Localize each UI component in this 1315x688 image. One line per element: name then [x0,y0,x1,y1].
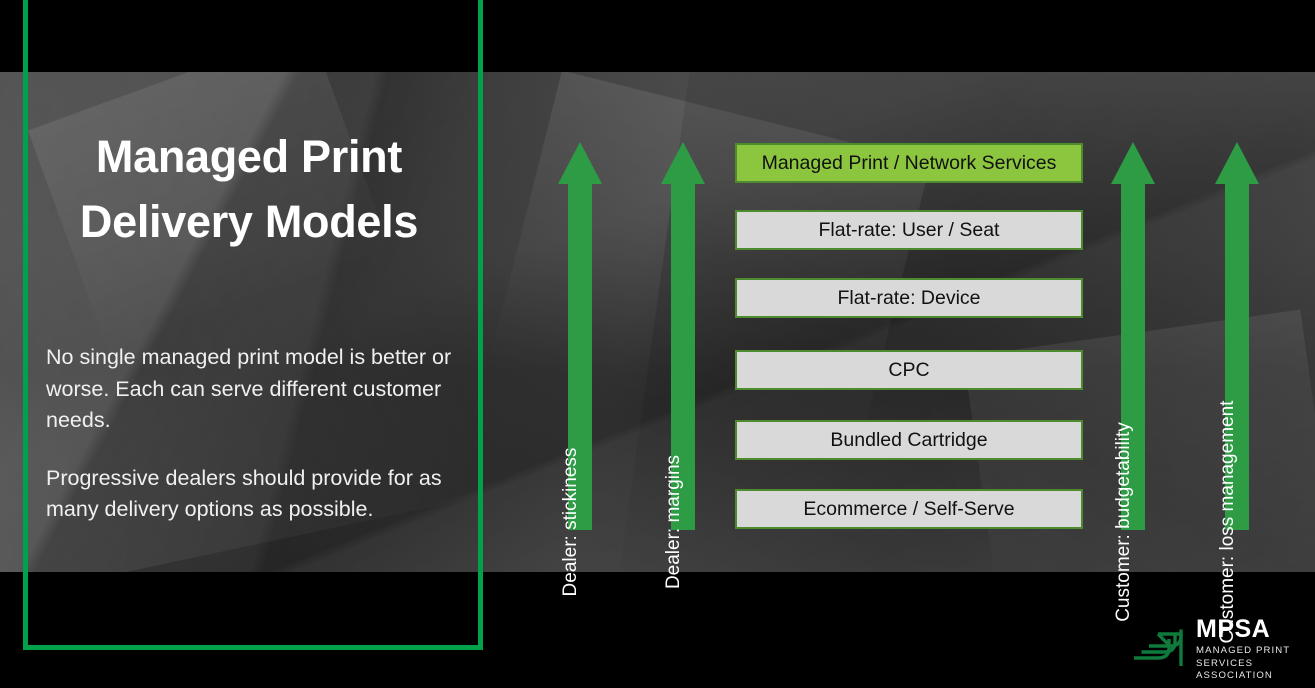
arrow-shaft: Dealer: margins [671,184,695,530]
arrow-dealer-stickiness: Dealer: stickiness [558,142,602,530]
model-box-label: Flat-rate: Device [837,287,980,310]
model-box-label: Bundled Cartridge [830,429,987,452]
arrow-label: Dealer: margins [664,455,683,589]
page-title-line-1: Managed Print [44,124,454,189]
arrow-customer-loss-management: Customer: loss management [1215,142,1259,530]
model-box-flat-rate-user-seat[interactable]: Flat-rate: User / Seat [735,210,1083,250]
body-paragraph-1: No single managed print model is better … [46,342,471,437]
logo-name: MPSA [1196,617,1298,642]
model-box-ecommerce-self-serve[interactable]: Ecommerce / Self-Serve [735,489,1083,529]
arrow-shaft: Customer: budgetability [1121,184,1145,530]
arrow-customer-budgetability: Customer: budgetability [1111,142,1155,530]
arrow-head-icon [1111,142,1155,184]
mpsa-logo: MPSA MANAGED PRINT SERVICES ASSOCIATION [1128,626,1298,674]
model-box-flat-rate-device[interactable]: Flat-rate: Device [735,278,1083,318]
model-box-cpc[interactable]: CPC [735,350,1083,390]
model-box-label: Managed Print / Network Services [762,152,1057,175]
model-box-managed-print-network-services[interactable]: Managed Print / Network Services [735,143,1083,183]
arrow-shaft: Customer: loss management [1225,184,1249,530]
chevron-stack-icon [1128,628,1186,672]
green-frame-border [23,0,483,650]
model-box-label: Ecommerce / Self-Serve [803,498,1014,521]
slide-root: Managed Print Delivery Models No single … [0,0,1315,688]
page-title-line-2: Delivery Models [44,189,454,254]
logo-text-block: MPSA MANAGED PRINT SERVICES ASSOCIATION [1196,617,1298,684]
arrow-shaft: Dealer: stickiness [568,184,592,530]
left-panel: Managed Print Delivery Models No single … [0,0,484,688]
arrow-label: Dealer: stickiness [561,448,580,597]
arrow-head-icon [661,142,705,184]
logo-subtitle-line-1: MANAGED PRINT [1196,645,1298,658]
model-box-bundled-cartridge[interactable]: Bundled Cartridge [735,420,1083,460]
arrow-head-icon [1215,142,1259,184]
body-paragraph-2: Progressive dealers should provide for a… [46,463,471,526]
logo-subtitle-line-2: SERVICES ASSOCIATION [1196,658,1298,684]
page-title: Managed Print Delivery Models [44,124,454,255]
model-box-label: Flat-rate: User / Seat [819,219,1000,242]
model-box-label: CPC [888,359,929,382]
arrow-label: Customer: loss management [1218,401,1237,644]
body-copy: No single managed print model is better … [46,342,471,526]
arrow-label: Customer: budgetability [1114,422,1133,622]
arrow-dealer-margins: Dealer: margins [661,142,705,530]
arrow-head-icon [558,142,602,184]
